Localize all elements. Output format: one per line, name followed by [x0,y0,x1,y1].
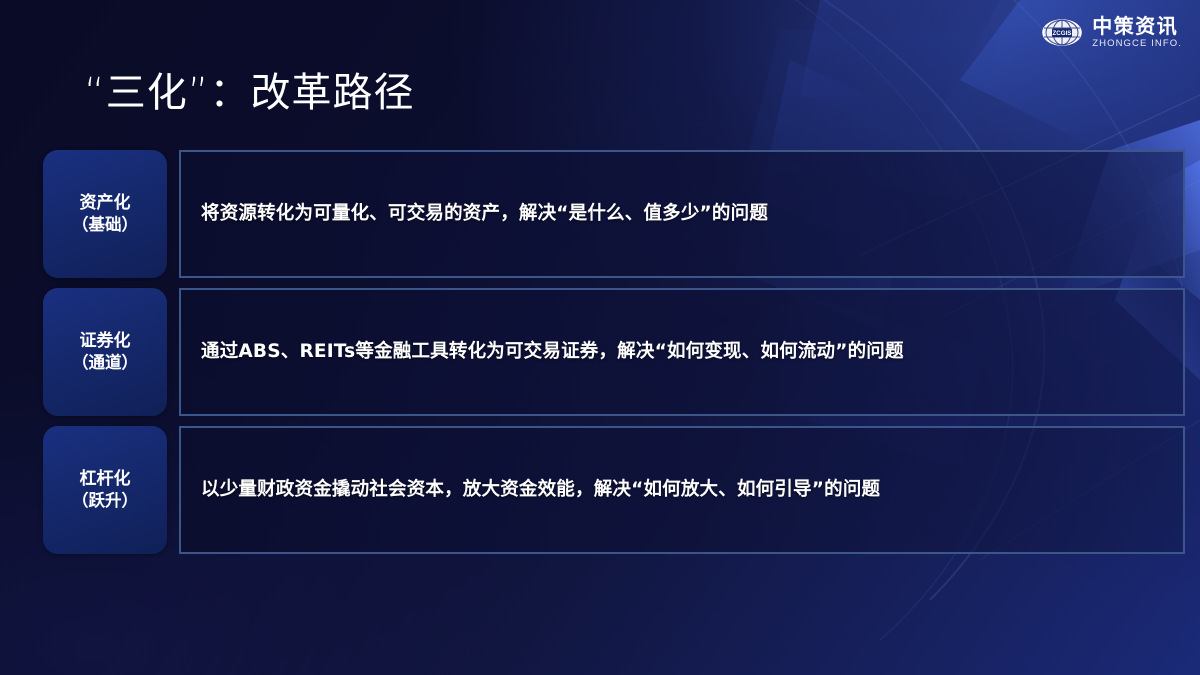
pathway-body-assetization: 将资源转化为可量化、可交易的资产，解决“是什么、值多少”的问题 [179,150,1185,278]
logo-name-en: ZHONGCE INFO. [1092,39,1182,49]
pathway-body-leverage: 以少量财政资金撬动社会资本，放大资金效能，解决“如何放大、如何引导”的问题 [179,426,1185,554]
pathway-list: 资产化 （基础） 将资源转化为可量化、可交易的资产，解决“是什么、值多少”的问题… [43,150,1185,554]
globe-icon: ZCGIS [1041,18,1083,47]
pathway-row: 证券化 （通道） 通过ABS、REITs等金融工具转化为可交易证券，解决“如何变… [43,288,1185,416]
logo-name-cn: 中策资讯 [1092,16,1182,36]
pathway-body-text: 以少量财政资金撬动社会资本，放大资金效能，解决“如何放大、如何引导”的问题 [201,477,880,504]
pathway-body-text: 通过ABS、REITs等金融工具转化为可交易证券，解决“如何变现、如何流动”的问… [201,339,904,366]
pathway-label-line2: （通道） [72,352,138,374]
pathway-label-securitization[interactable]: 证券化 （通道） [43,288,167,416]
pathway-body-securitization: 通过ABS、REITs等金融工具转化为可交易证券，解决“如何变现、如何流动”的问… [179,288,1185,416]
pathway-label-line1: 杠杆化 [80,468,131,490]
page-title: “三化”：改革路径 [84,60,414,118]
pathway-label-line2: （基础） [72,214,138,236]
pathway-label-leverage[interactable]: 杠杆化 （跃升） [43,426,167,554]
pathway-body-text: 将资源转化为可量化、可交易的资产，解决“是什么、值多少”的问题 [201,201,768,228]
pathway-label-line1: 证券化 [80,330,131,352]
pathway-row: 资产化 （基础） 将资源转化为可量化、可交易的资产，解决“是什么、值多少”的问题 [43,150,1185,278]
logo-mark-text: ZCGIS [1053,30,1072,37]
pathway-label-assetization[interactable]: 资产化 （基础） [43,150,167,278]
pathway-label-line2: （跃升） [72,490,138,512]
brand-logo: ZCGIS 中策资讯 ZHONGCE INFO. [1041,16,1182,49]
logo-wordmark: 中策资讯 ZHONGCE INFO. [1092,16,1182,49]
pathway-row: 杠杆化 （跃升） 以少量财政资金撬动社会资本，放大资金效能，解决“如何放大、如何… [43,426,1185,554]
pathway-label-line1: 资产化 [80,192,131,214]
slide-canvas: ZCGIS 中策资讯 ZHONGCE INFO. “三化”：改革路径 资产化 （… [0,0,1200,675]
